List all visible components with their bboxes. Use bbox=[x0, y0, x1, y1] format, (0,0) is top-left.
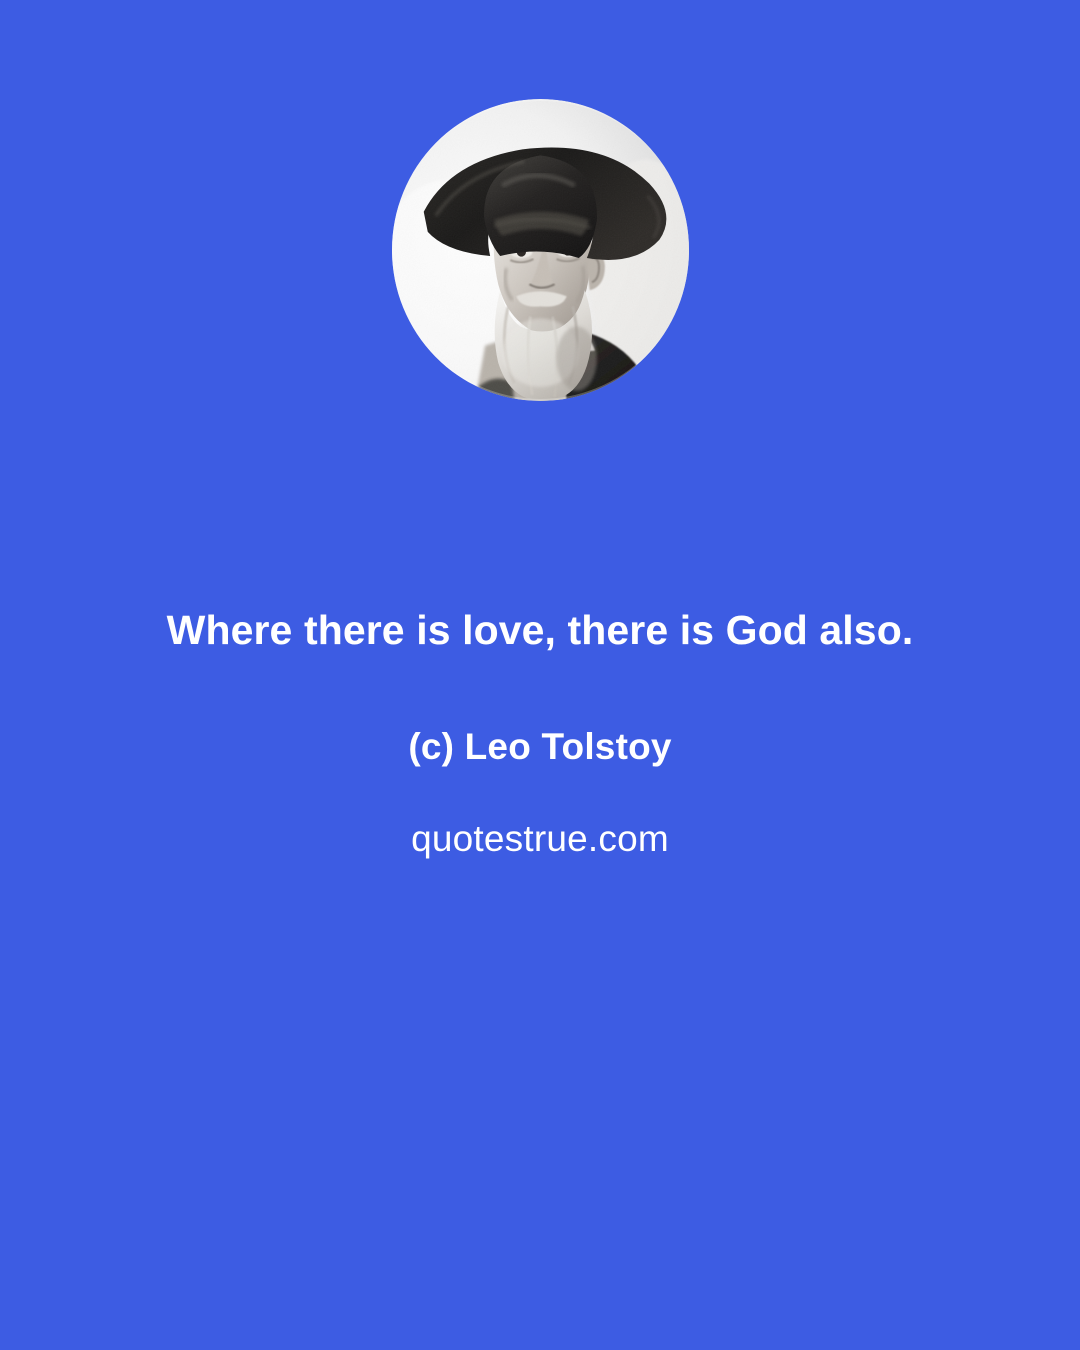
source-website: quotestrue.com bbox=[0, 765, 1080, 857]
author-portrait-photo bbox=[392, 99, 689, 401]
quote-card: Where there is love, there is God also. … bbox=[0, 0, 1080, 1350]
quote-content: Where there is love, there is God also. … bbox=[0, 560, 1080, 857]
quote-text: Where there is love, there is God also. bbox=[145, 560, 935, 678]
author-portrait bbox=[392, 99, 689, 401]
quote-attribution: (c) Leo Tolstoy bbox=[0, 678, 1080, 765]
